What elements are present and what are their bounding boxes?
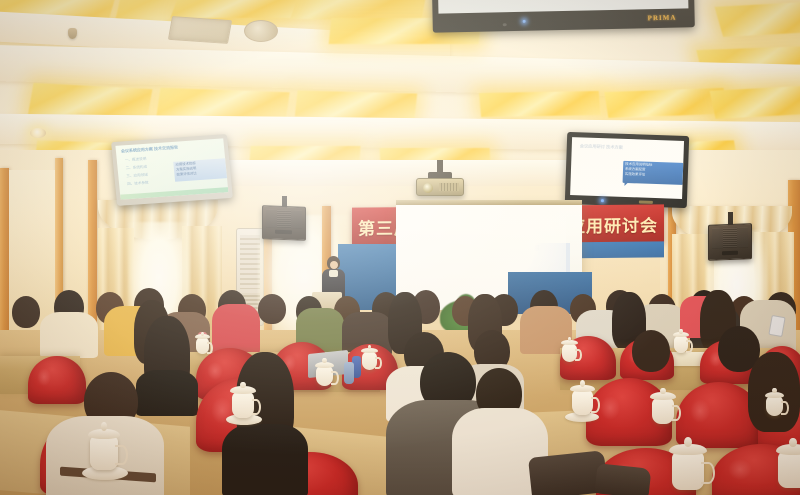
presenter-collar	[329, 270, 338, 277]
ceiling-downlight	[30, 128, 46, 138]
ceiling-light-panel	[170, 0, 299, 18]
audience-torso	[40, 312, 98, 358]
teacup	[674, 336, 688, 353]
teacup	[562, 344, 577, 362]
thermos-bottle	[344, 362, 354, 384]
cup-lid	[776, 444, 800, 455]
audience-head	[258, 294, 286, 324]
cup-knob	[240, 382, 245, 389]
speaker-port	[722, 251, 738, 256]
cup-knob	[580, 380, 585, 387]
audience-torso	[222, 424, 308, 495]
speaker-port	[275, 230, 292, 235]
teacup	[652, 398, 674, 424]
callout-tail-icon	[624, 181, 629, 186]
cup-knob	[322, 358, 326, 363]
power-led-icon	[523, 20, 526, 23]
left-monitor-screen: 会议系统应用方案 技术交流报告 一、概述说明 二、系统构成 三、应用领域 四、技…	[115, 138, 228, 199]
teacup	[766, 396, 783, 416]
sprinkler-head	[68, 28, 77, 39]
cup-handle	[331, 371, 339, 385]
right-monitor-slide-title: 会议应用研讨 技术方案	[580, 143, 623, 150]
audience-torso-red	[212, 304, 260, 354]
right-monitor-screen: 会议应用研讨 技术方案 技术应用说明指标系统方案配置实施效果评估	[570, 137, 684, 199]
cup-handle	[115, 445, 127, 465]
cup-knob	[201, 332, 204, 336]
conference-hall-photo: PRIMA 会议系统应用方案 技术交流报告 一、概述说明 二、系统构成 三、应用…	[0, 0, 800, 495]
cup-knob	[772, 388, 776, 393]
left-monitor-slide-line: 三、应用领域	[126, 173, 148, 179]
left-monitor-callout: 应用技术指标方案实施说明效果评估对比	[173, 158, 227, 182]
teacup	[778, 452, 800, 488]
power-led-icon	[601, 199, 604, 202]
projector-lens-icon	[423, 183, 433, 193]
ceiling-light-panel	[295, 90, 417, 119]
left-monitor-slide-line: 一、概述说明	[125, 157, 147, 163]
cup-knob	[789, 438, 796, 447]
monitor-logo	[639, 200, 653, 203]
left-monitor-slide-title: 会议系统应用方案 技术交流报告	[121, 145, 179, 155]
left-monitor-slide-line: 二、系统构成	[125, 165, 147, 171]
ceiling-light-panel	[479, 91, 601, 117]
speaker-grille	[266, 209, 302, 228]
teacup	[572, 390, 593, 415]
ceiling-air-vent	[168, 16, 232, 44]
cup-handle	[686, 340, 693, 352]
ceiling-light-panel	[715, 1, 800, 37]
cup-knob	[684, 437, 692, 447]
teacup	[90, 436, 118, 470]
ir-sensor-icon	[503, 23, 507, 26]
tv-brand-label: PRIMA	[648, 14, 677, 23]
ceiling-projector[interactable]	[416, 178, 464, 196]
right-monitor-callout: 技术应用说明指标系统方案配置实施效果评估	[623, 161, 684, 185]
cup-handle	[591, 397, 601, 413]
cup-knob	[660, 388, 665, 395]
teacup	[672, 452, 704, 490]
teacup	[232, 392, 254, 418]
teacup	[316, 366, 333, 386]
cup-knob	[679, 329, 682, 333]
right-wall-monitor[interactable]: 会议应用研讨 技术方案 技术应用说明指标系统方案配置实施效果评估	[565, 132, 689, 208]
audience-head	[632, 330, 670, 372]
wall-speaker-right[interactable]	[708, 223, 752, 261]
left-monitor-footer-bar	[120, 187, 228, 200]
left-wall-monitor[interactable]: 会议系统应用方案 技术交流报告 一、概述说明 二、系统构成 三、应用领域 四、技…	[111, 134, 233, 206]
handbag[interactable]	[595, 463, 652, 495]
overhead-tv[interactable]: PRIMA	[431, 0, 695, 33]
ceiling-round-vent	[244, 20, 278, 42]
left-monitor-slide-line: 四、技术参数	[127, 181, 149, 187]
ceiling-light-panel	[710, 85, 800, 119]
audience-torso	[136, 370, 198, 416]
audience-head	[12, 296, 40, 328]
cup-handle	[781, 401, 789, 415]
projector-vent	[439, 183, 459, 191]
speaker-grille	[712, 227, 748, 248]
presenter-face	[330, 261, 338, 269]
wall-speaker-left[interactable]	[262, 205, 306, 241]
ac-louvers	[240, 235, 260, 289]
overhead-tv-screen	[437, 0, 688, 14]
teacup	[196, 338, 209, 354]
teacup	[362, 352, 377, 370]
cup-handle	[701, 462, 715, 484]
